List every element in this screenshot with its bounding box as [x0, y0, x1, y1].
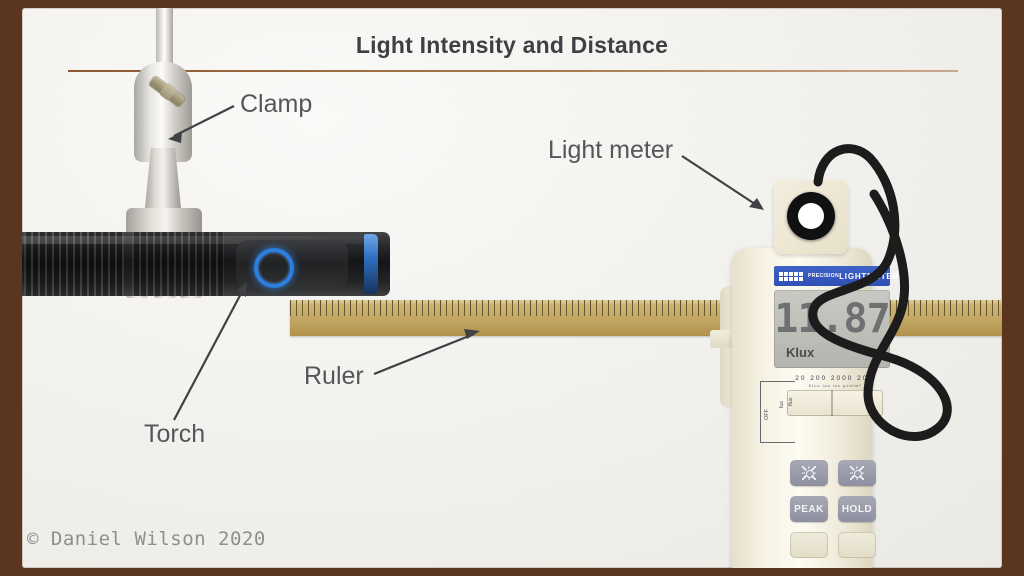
sensor-ring-icon — [787, 192, 835, 240]
switch-off-label: OFF — [764, 409, 770, 420]
label-ruler: Ruler — [304, 362, 364, 391]
range-scale-sublabels: Klux lux lux µcd/m² — [790, 383, 880, 388]
brand-logo-icon — [779, 272, 803, 281]
sensor-dome-icon — [798, 203, 824, 229]
range-selector-slider[interactable] — [787, 390, 883, 416]
brightness-low-button[interactable] — [790, 460, 828, 486]
label-light-meter: Light meter — [548, 136, 673, 165]
lcd-unit-label: Klux — [786, 345, 814, 360]
meter-button-pad: PEAK HOLD — [790, 460, 876, 568]
light-sensor-head — [774, 180, 848, 254]
sun-bright-icon — [850, 466, 864, 480]
slide-paper: Light Intensity and Distance — [22, 8, 1002, 568]
sun-icon — [802, 466, 816, 480]
torch-power-ring-icon[interactable] — [254, 248, 294, 288]
brand-sub-label: PRECISION — [808, 273, 839, 279]
brightness-high-button[interactable] — [838, 460, 876, 486]
meter-lcd-screen: 11.87 Klux — [774, 290, 890, 368]
range-scale-labels: 20 200 2000 20K — [790, 375, 880, 382]
brand-name-label: LIGHTMETER — [839, 272, 899, 281]
label-torch: Torch — [144, 420, 205, 449]
switch-lux-label: lux — [779, 401, 785, 408]
torch — [22, 232, 390, 296]
hold-button[interactable]: HOLD — [838, 496, 876, 522]
lcd-reading-value: 11.87 — [774, 292, 890, 346]
label-clamp: Clamp — [240, 90, 312, 119]
meter-side-nub — [710, 330, 734, 348]
blank-button-left[interactable] — [790, 532, 828, 558]
clamp-head — [134, 62, 192, 162]
peak-button[interactable]: PEAK — [790, 496, 828, 522]
meter-brand-bar: PRECISION LIGHTMETER — [774, 266, 890, 286]
torch-lens-tip — [364, 234, 378, 294]
ruler-major-ticks — [290, 300, 1002, 315]
switch-flux-label: flux — [788, 397, 794, 406]
title-divider — [68, 70, 958, 72]
copyright-notice: © Daniel Wilson 2020 — [27, 528, 266, 550]
ruler — [290, 300, 1002, 336]
range-slider-knob[interactable] — [831, 390, 833, 416]
blank-button-right[interactable] — [838, 532, 876, 558]
slide-frame: Light Intensity and Distance — [0, 0, 1024, 576]
